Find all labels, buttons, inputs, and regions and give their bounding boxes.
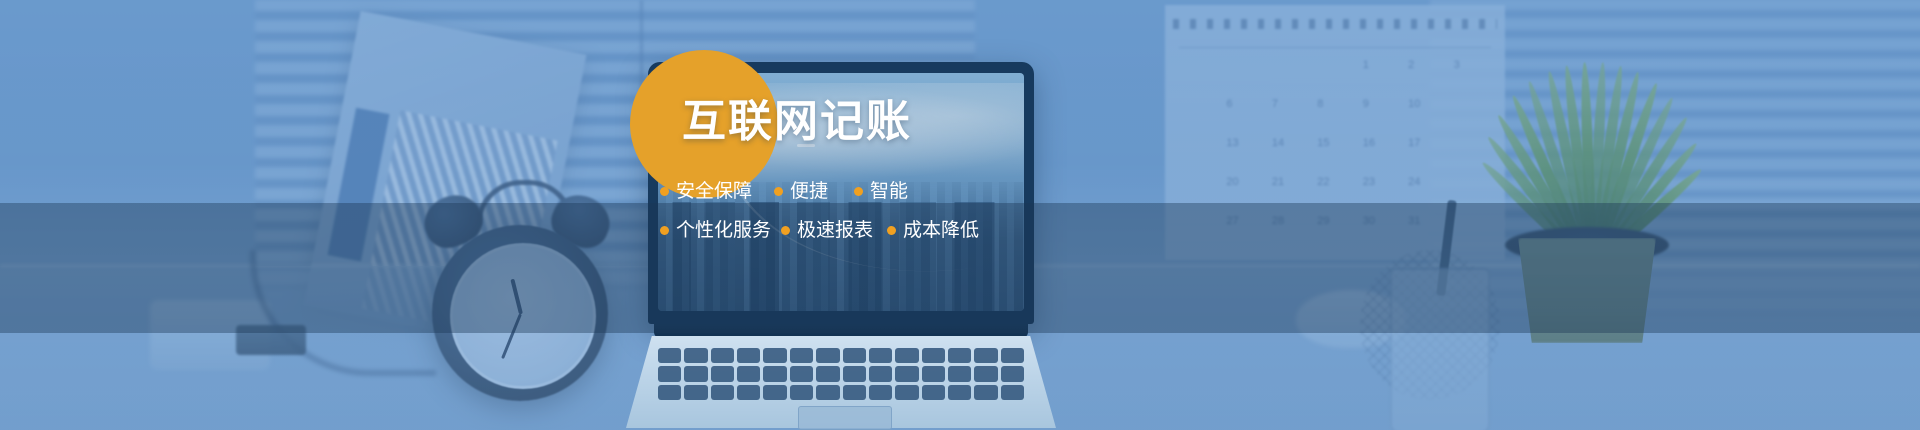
feature-tag-label: 安全保障 xyxy=(676,182,752,201)
feature-tag-row: 个性化服务极速报表成本降低 xyxy=(660,221,1032,240)
dot-icon xyxy=(774,187,783,196)
feature-tag-list: 安全保障便捷智能个性化服务极速报表成本降低 xyxy=(660,182,1032,260)
dot-icon xyxy=(660,187,669,196)
dot-icon xyxy=(887,226,896,235)
feature-tag-label: 成本降低 xyxy=(903,221,979,240)
dot-icon xyxy=(781,226,790,235)
feature-tag[interactable]: 安全保障 xyxy=(660,182,752,201)
feature-tag[interactable]: 成本降低 xyxy=(887,221,979,240)
dot-icon xyxy=(854,187,863,196)
feature-tag-label: 极速报表 xyxy=(797,221,873,240)
feature-tag[interactable]: 便捷 xyxy=(774,182,828,201)
feature-tag[interactable]: 智能 xyxy=(854,182,908,201)
feature-tag[interactable]: 个性化服务 xyxy=(660,221,771,240)
feature-tag-label: 个性化服务 xyxy=(676,221,771,240)
dot-icon xyxy=(660,226,669,235)
feature-tag-label: 智能 xyxy=(870,182,908,201)
banner-content: 互联网记账 安全保障便捷智能个性化服务极速报表成本降低 xyxy=(648,62,1034,430)
feature-tag[interactable]: 极速报表 xyxy=(781,221,873,240)
promo-banner: 123678910131415161720212223242728293031 xyxy=(0,0,1920,430)
feature-tag-label: 便捷 xyxy=(790,182,828,201)
feature-tag-row: 安全保障便捷智能 xyxy=(660,182,1032,201)
banner-title: 互联网记账 xyxy=(682,100,912,144)
